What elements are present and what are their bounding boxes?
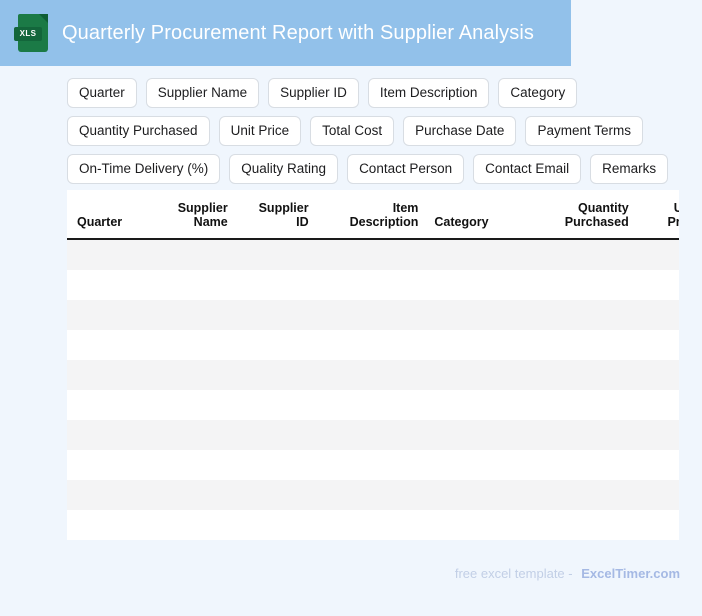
table-row[interactable] <box>67 450 679 480</box>
table-cell[interactable] <box>67 480 679 510</box>
table-row[interactable] <box>67 239 679 270</box>
column-header-quantity-purchased[interactable]: Quantity Purchased <box>521 190 637 239</box>
column-header-item-description[interactable]: Item Description <box>317 190 427 239</box>
table-cell[interactable] <box>67 510 679 540</box>
chip-unit-price[interactable]: Unit Price <box>219 116 302 146</box>
table-cell[interactable] <box>67 360 679 390</box>
chip-quantity-purchased[interactable]: Quantity Purchased <box>67 116 210 146</box>
xls-icon-label: XLS <box>14 27 42 41</box>
chip-supplier-name[interactable]: Supplier Name <box>146 78 259 108</box>
table-row[interactable] <box>67 420 679 450</box>
table-cell[interactable] <box>67 420 679 450</box>
app-header: XLS Quarterly Procurement Report with Su… <box>0 0 571 66</box>
table-header: Quarter Supplier Name Supplier ID Item D… <box>67 190 679 239</box>
table-row[interactable] <box>67 360 679 390</box>
column-header-category[interactable]: Category <box>426 190 521 239</box>
table-row[interactable] <box>67 390 679 420</box>
table-header-row: Quarter Supplier Name Supplier ID Item D… <box>67 190 679 239</box>
column-header-unit-price[interactable]: Unit Price <box>637 190 679 239</box>
table-cell[interactable] <box>67 390 679 420</box>
table-row[interactable] <box>67 510 679 540</box>
table-body <box>67 239 679 540</box>
chip-total-cost[interactable]: Total Cost <box>310 116 394 146</box>
table-row[interactable] <box>67 300 679 330</box>
footer-brand[interactable]: ExcelTimer.com <box>581 566 680 581</box>
data-table: Quarter Supplier Name Supplier ID Item D… <box>67 190 679 540</box>
chip-quarter[interactable]: Quarter <box>67 78 137 108</box>
chip-purchase-date[interactable]: Purchase Date <box>403 116 516 146</box>
table-cell[interactable] <box>67 270 679 300</box>
chip-contact-person[interactable]: Contact Person <box>347 154 464 184</box>
column-header-supplier-name[interactable]: Supplier Name <box>155 190 236 239</box>
xls-file-icon: XLS <box>18 14 48 52</box>
footer: free excel template - ExcelTimer.com <box>455 566 680 581</box>
table-row[interactable] <box>67 270 679 300</box>
page-title: Quarterly Procurement Report with Suppli… <box>62 22 534 45</box>
chip-payment-terms[interactable]: Payment Terms <box>525 116 643 146</box>
chip-item-description[interactable]: Item Description <box>368 78 490 108</box>
chip-quality-rating[interactable]: Quality Rating <box>229 154 338 184</box>
table-row[interactable] <box>67 480 679 510</box>
footer-text: free excel template - <box>455 566 573 581</box>
chip-supplier-id[interactable]: Supplier ID <box>268 78 359 108</box>
data-table-card: Quarter Supplier Name Supplier ID Item D… <box>67 190 679 540</box>
table-cell[interactable] <box>67 450 679 480</box>
chip-category[interactable]: Category <box>498 78 577 108</box>
table-row[interactable] <box>67 330 679 360</box>
table-cell[interactable] <box>67 330 679 360</box>
chip-on-time-delivery[interactable]: On-Time Delivery (%) <box>67 154 220 184</box>
table-cell[interactable] <box>67 239 679 270</box>
chip-remarks[interactable]: Remarks <box>590 154 668 184</box>
field-chip-list: Quarter Supplier Name Supplier ID Item D… <box>67 78 679 184</box>
column-header-quarter[interactable]: Quarter <box>67 190 155 239</box>
chip-contact-email[interactable]: Contact Email <box>473 154 581 184</box>
table-cell[interactable] <box>67 300 679 330</box>
column-header-supplier-id[interactable]: Supplier ID <box>236 190 317 239</box>
